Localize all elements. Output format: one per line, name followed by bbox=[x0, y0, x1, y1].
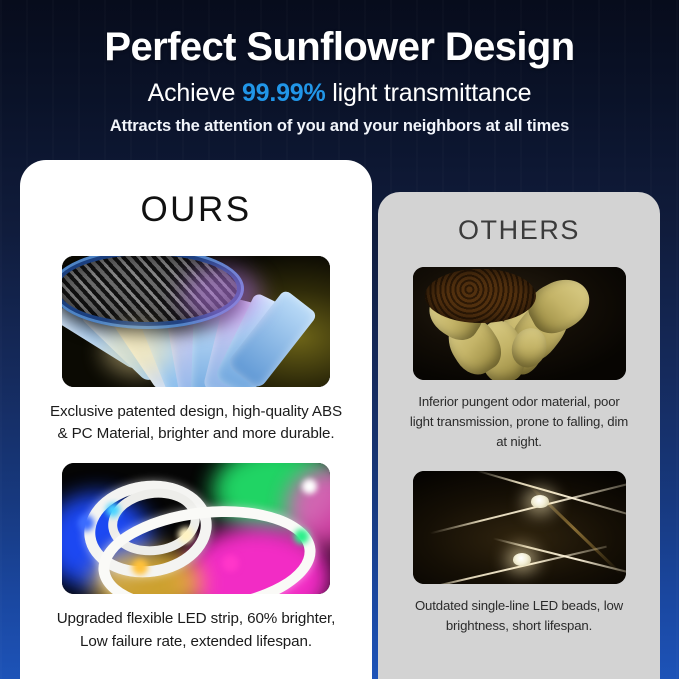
plastic-sunflower-photo bbox=[413, 267, 626, 380]
plastic-sunflower-illustration bbox=[413, 267, 626, 380]
others-caption-2: Outdated single-line LED beads, low brig… bbox=[405, 596, 633, 636]
tagline: Attracts the attention of you and your n… bbox=[0, 117, 679, 136]
led-bead bbox=[531, 495, 549, 508]
others-panel: OTHERS Inferior pungent odor material, p… bbox=[378, 192, 660, 679]
sunflower-led-cover-illustration bbox=[62, 256, 330, 387]
ours-title: OURS bbox=[20, 190, 372, 230]
page-title: Perfect Sunflower Design bbox=[0, 26, 679, 69]
subtitle-prefix: Achieve bbox=[148, 79, 242, 107]
transmittance-value: 99.99% bbox=[242, 79, 326, 107]
ours-caption-1: Exclusive patented design, high-quality … bbox=[46, 401, 346, 445]
ours-caption-2: Upgraded flexible LED strip, 60% brighte… bbox=[46, 608, 346, 652]
header-block: Perfect Sunflower Design Achieve 99.99% … bbox=[0, 26, 679, 136]
sunflower-led-cover-photo bbox=[62, 256, 330, 387]
subtitle-suffix: light transmittance bbox=[326, 79, 532, 107]
single-line-led-beads-photo bbox=[413, 471, 626, 584]
rgb-led-strip-photo bbox=[62, 463, 330, 594]
led-bead bbox=[513, 553, 531, 566]
single-line-led-beads-illustration bbox=[413, 471, 626, 584]
product-comparison-infographic: Perfect Sunflower Design Achieve 99.99% … bbox=[0, 0, 679, 679]
ours-panel: OURS Exclusiv bbox=[20, 160, 372, 679]
others-caption-1: Inferior pungent odor material, poor lig… bbox=[405, 392, 633, 451]
rgb-led-strip-illustration bbox=[62, 463, 330, 594]
others-title: OTHERS bbox=[378, 215, 660, 246]
subtitle: Achieve 99.99% light transmittance bbox=[0, 79, 679, 108]
